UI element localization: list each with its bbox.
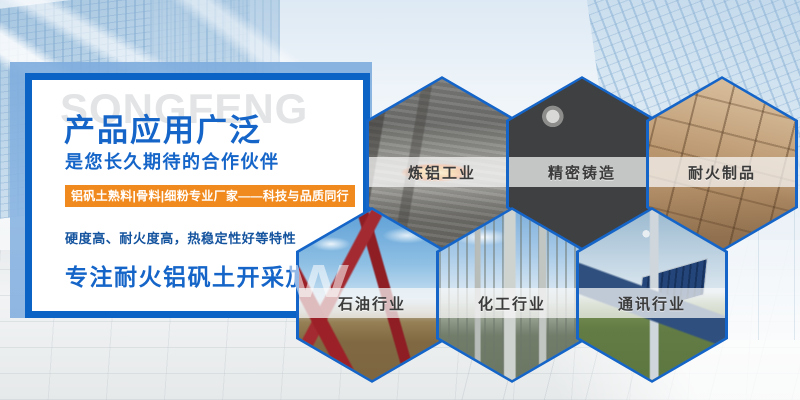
hex-label: 精密铸造 bbox=[509, 157, 655, 187]
hexagon-gallery: 炼铝工业 精密铸造 耐火制品 石油行业 bbox=[0, 0, 800, 400]
v-logo-watermark: W bbox=[288, 254, 343, 308]
hex-label: 化工行业 bbox=[439, 288, 585, 318]
hex-label: 通讯行业 bbox=[579, 288, 725, 318]
hex-label: 耐火制品 bbox=[649, 157, 795, 187]
hex-label: 炼铝工业 bbox=[369, 157, 515, 187]
promo-banner: SONGFENG 产品应用广泛 是您长久期待的合作伙伴 铝矾土熟料|骨料|细粉专… bbox=[0, 0, 800, 400]
